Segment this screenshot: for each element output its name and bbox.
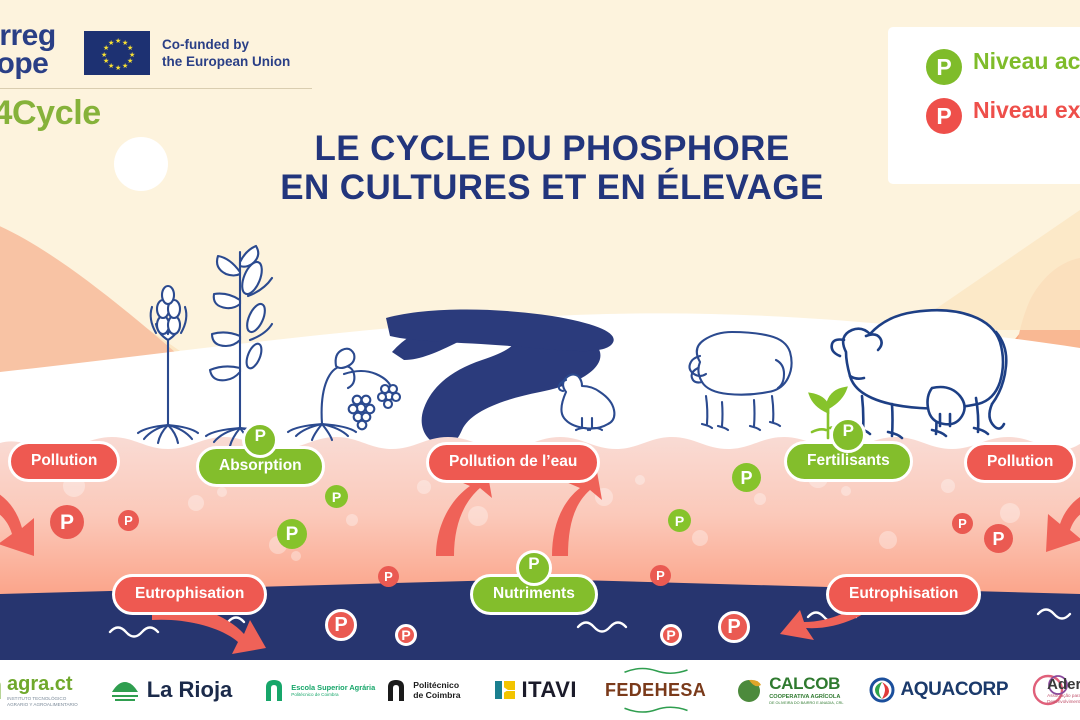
logo-inagra-sub2: AGRARIO Y AGROALIMENTARIO	[7, 702, 78, 708]
logo-inagra-text: agra.ct	[7, 673, 78, 696]
logo-esac-note: Politécnico de Coimbra	[291, 692, 375, 698]
legend-item-excessive: P Niveau excessif	[926, 98, 1080, 134]
logo-fedehesa-text: FEDEHESA	[605, 680, 706, 701]
logo-la-rioja: La Rioja	[108, 667, 233, 713]
logo-calcob-sub1: COOPERATIVA AGRÍCOLA	[769, 694, 843, 701]
logo-ipc-line2: de Coimbra	[413, 690, 460, 700]
esac-mark-icon	[262, 677, 286, 703]
legend-label-acceptable: Niveau acceptable	[973, 49, 1080, 75]
phosphorus-token-excessive: P	[325, 609, 357, 641]
phosphorus-token-acceptable: P	[732, 463, 761, 492]
label-eutrophisation-right: Eutrophisation	[826, 574, 981, 615]
logo-esac: Escola Superior Agrária Politécnico de C…	[262, 667, 460, 713]
phosphorus-token-excessive: P	[395, 624, 417, 646]
calcob-mark-icon	[734, 675, 764, 705]
phosphorus-token-acceptable: P	[325, 485, 348, 508]
p-badge-fertilisants-icon: P	[830, 417, 866, 453]
fedehesa-swoosh-bottom-icon	[612, 706, 700, 714]
legend-label-excessive: Niveau excessif	[973, 98, 1080, 124]
phosphorus-token-acceptable: P	[668, 509, 691, 532]
phosphorus-token-excessive: P	[984, 524, 1013, 553]
phosphorus-token-excessive: P	[378, 566, 399, 587]
itavi-mark-icon	[493, 677, 517, 703]
label-absorption: P Absorption	[196, 446, 325, 487]
infographic-canvas: Interreg Europe ★ ★ ★ ★ ★ ★ ★ ★ ★ ★ ★ ★ …	[0, 0, 1080, 720]
label-pollution-left: Pollution	[8, 441, 120, 482]
label-absorption-text: Absorption	[219, 457, 302, 474]
logo-aquacorp-text: AQUACORP	[900, 679, 1008, 701]
phosphorus-token-excessive: P	[660, 624, 682, 646]
label-water-pollution: Pollution de l’eau	[426, 442, 600, 483]
sun-circle	[114, 137, 168, 191]
label-fertilisants: P Fertilisants	[784, 441, 913, 482]
logo-adera-text: Adera	[1047, 676, 1080, 693]
page-title-line1: LE CYCLE DU PHOSPHORE	[232, 129, 872, 168]
logo-calcob-sub2: DE OLIVEIRA DO BAIRRO E ANADIA, CRL	[769, 701, 843, 706]
eu-funding-line2: the European Union	[162, 53, 290, 70]
p-badge-nutriments-icon: P	[516, 550, 552, 586]
logo-fedehesa: FEDEHESA	[605, 667, 706, 713]
ipc-mark-icon	[384, 677, 408, 703]
phosphorus-token-excessive: P	[50, 505, 84, 539]
page-title-line2: EN CULTURES ET EN ÉLEVAGE	[232, 168, 872, 207]
phosphorus-token-excessive: P	[952, 513, 973, 534]
eu-flag-icon: ★ ★ ★ ★ ★ ★ ★ ★ ★ ★ ★ ★	[84, 31, 150, 75]
label-pollution-right: Pollution	[964, 442, 1076, 483]
logo-calcob-text: CALCOB	[769, 674, 843, 694]
p-badge-green-icon: P	[926, 49, 962, 85]
logo-inagra-ct: agra.ct INSTITUTO TECNOLÓGICO AGRARIO Y …	[0, 667, 78, 713]
eu-funding-block: ★ ★ ★ ★ ★ ★ ★ ★ ★ ★ ★ ★ Co-funded by the…	[84, 31, 290, 75]
logo-itavi-text: ITAVI	[522, 677, 577, 703]
label-eutrophisation-left: Eutrophisation	[112, 574, 267, 615]
logo-itavi: ITAVI	[493, 667, 577, 713]
phosphorus-token-acceptable: P	[277, 519, 307, 549]
eu-funding-line1: Co-funded by	[162, 36, 290, 53]
interreg-logo-line2: Europe	[0, 50, 56, 78]
logo-adera: Adera Associação para o Desenvolvimento	[1028, 667, 1080, 713]
label-fertilisants-text: Fertilisants	[807, 452, 890, 469]
legend-card: P Niveau acceptable P Niveau excessif	[888, 27, 1080, 184]
logo-adera-sub2: Desenvolvimento	[1047, 699, 1080, 705]
logo-la-rioja-text: La Rioja	[147, 677, 233, 703]
aquacorp-mark-icon	[869, 677, 895, 703]
fedehesa-swoosh-top-icon	[612, 667, 700, 675]
logo-aquacorp: AQUACORP	[869, 667, 1008, 713]
phosphorus-token-excessive: P	[118, 510, 139, 531]
p-badge-red-icon: P	[926, 98, 962, 134]
la-rioja-mark-icon	[108, 676, 142, 704]
eu-funding-text: Co-funded by the European Union	[162, 36, 290, 71]
phosphorus-token-excessive: P	[718, 611, 750, 643]
label-nutriments-text: Nutriments	[493, 585, 575, 602]
header-divider	[0, 88, 312, 89]
page-title: LE CYCLE DU PHOSPHORE EN CULTURES ET EN …	[232, 129, 872, 207]
logo-esac-text: Escola Superior Agrária	[291, 683, 375, 692]
phosphorus-token-excessive: P	[650, 565, 671, 586]
legend-item-acceptable: P Niveau acceptable	[926, 49, 1080, 85]
logo-ipc-line1: Politécnico	[413, 680, 460, 690]
project-brand: Phos4Cycle	[0, 94, 101, 133]
logo-calcob: CALCOB COOPERATIVA AGRÍCOLA DE OLIVEIRA …	[734, 667, 843, 713]
p-badge-absorption-icon: P	[242, 422, 278, 458]
inagra-mark-icon	[0, 679, 2, 701]
label-nutriments: P Nutriments	[470, 574, 598, 615]
interreg-logo-line1: Interreg	[0, 22, 56, 50]
interreg-logo: Interreg Europe	[0, 22, 56, 77]
partner-logo-strip: agra.ct INSTITUTO TECNOLÓGICO AGRARIO Y …	[0, 660, 1080, 720]
